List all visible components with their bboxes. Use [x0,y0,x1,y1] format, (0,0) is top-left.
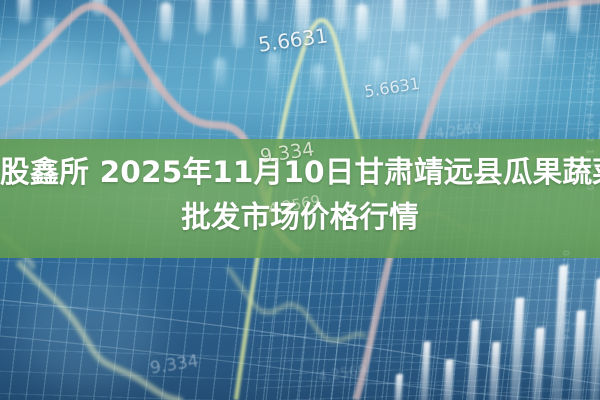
banner-image: 0.3419 0.8852 1.2240 0.5512 1.0934 5.663… [0,0,600,400]
ticker-digits-column-lower: 0.5512 1.0934 [559,250,570,342]
